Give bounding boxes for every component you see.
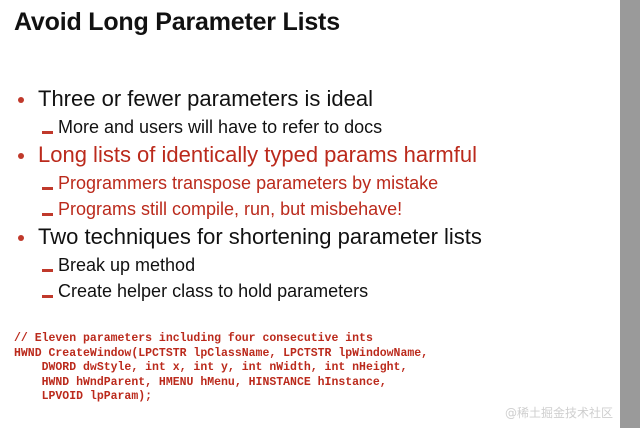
dash-icon	[42, 213, 53, 216]
sub-bullet-item: Break up method	[0, 252, 610, 278]
slide-canvas: Avoid Long Parameter Lists Three or fewe…	[0, 0, 640, 428]
dash-icon	[42, 131, 53, 134]
sub-bullet-item-label: More and users will have to refer to doc…	[58, 117, 382, 137]
code-line: HWND CreateWindow(LPCTSTR lpClassName, L…	[14, 347, 428, 362]
code-line: DWORD dwStyle, int x, int y, int nWidth,…	[14, 361, 428, 376]
bullet-item-label: Two techniques for shortening parameter …	[38, 224, 482, 249]
dash-icon	[42, 269, 53, 272]
bullet-dot-icon	[18, 153, 24, 159]
bullet-list: Three or fewer parameters is idealMore a…	[0, 84, 610, 304]
bullet-group: Two techniques for shortening parameter …	[0, 222, 610, 304]
sub-bullet-item-label: Create helper class to hold parameters	[58, 281, 368, 301]
sub-bullet-item-label: Programmers transpose parameters by mist…	[58, 173, 438, 193]
bullet-item: Long lists of identically typed params h…	[0, 140, 610, 170]
bullet-item-label: Long lists of identically typed params h…	[38, 142, 477, 167]
dash-icon	[42, 187, 53, 190]
dash-icon	[42, 295, 53, 298]
bullet-dot-icon	[18, 97, 24, 103]
bullet-item: Three or fewer parameters is ideal	[0, 84, 610, 114]
sub-bullet-item: Programs still compile, run, but misbeha…	[0, 196, 610, 222]
bullet-item: Two techniques for shortening parameter …	[0, 222, 610, 252]
code-block: // Eleven parameters including four cons…	[14, 332, 428, 405]
bullet-dot-icon	[18, 235, 24, 241]
sub-bullet-item-label: Break up method	[58, 255, 195, 275]
bullet-item-label: Three or fewer parameters is ideal	[38, 86, 373, 111]
code-line: LPVOID lpParam);	[14, 390, 428, 405]
bullet-group: Long lists of identically typed params h…	[0, 140, 610, 222]
page-title: Avoid Long Parameter Lists	[14, 8, 340, 37]
sub-bullet-item-label: Programs still compile, run, but misbeha…	[58, 199, 402, 219]
sub-bullet-item: More and users will have to refer to doc…	[0, 114, 610, 140]
code-line: HWND hWndParent, HMENU hMenu, HINSTANCE …	[14, 376, 428, 391]
sub-bullet-item: Programmers transpose parameters by mist…	[0, 170, 610, 196]
sub-bullet-item: Create helper class to hold parameters	[0, 278, 610, 304]
code-line: // Eleven parameters including four cons…	[14, 332, 428, 347]
bullet-group: Three or fewer parameters is idealMore a…	[0, 84, 610, 140]
watermark: @稀土掘金技术社区	[505, 404, 613, 421]
right-edge-band	[620, 0, 640, 428]
